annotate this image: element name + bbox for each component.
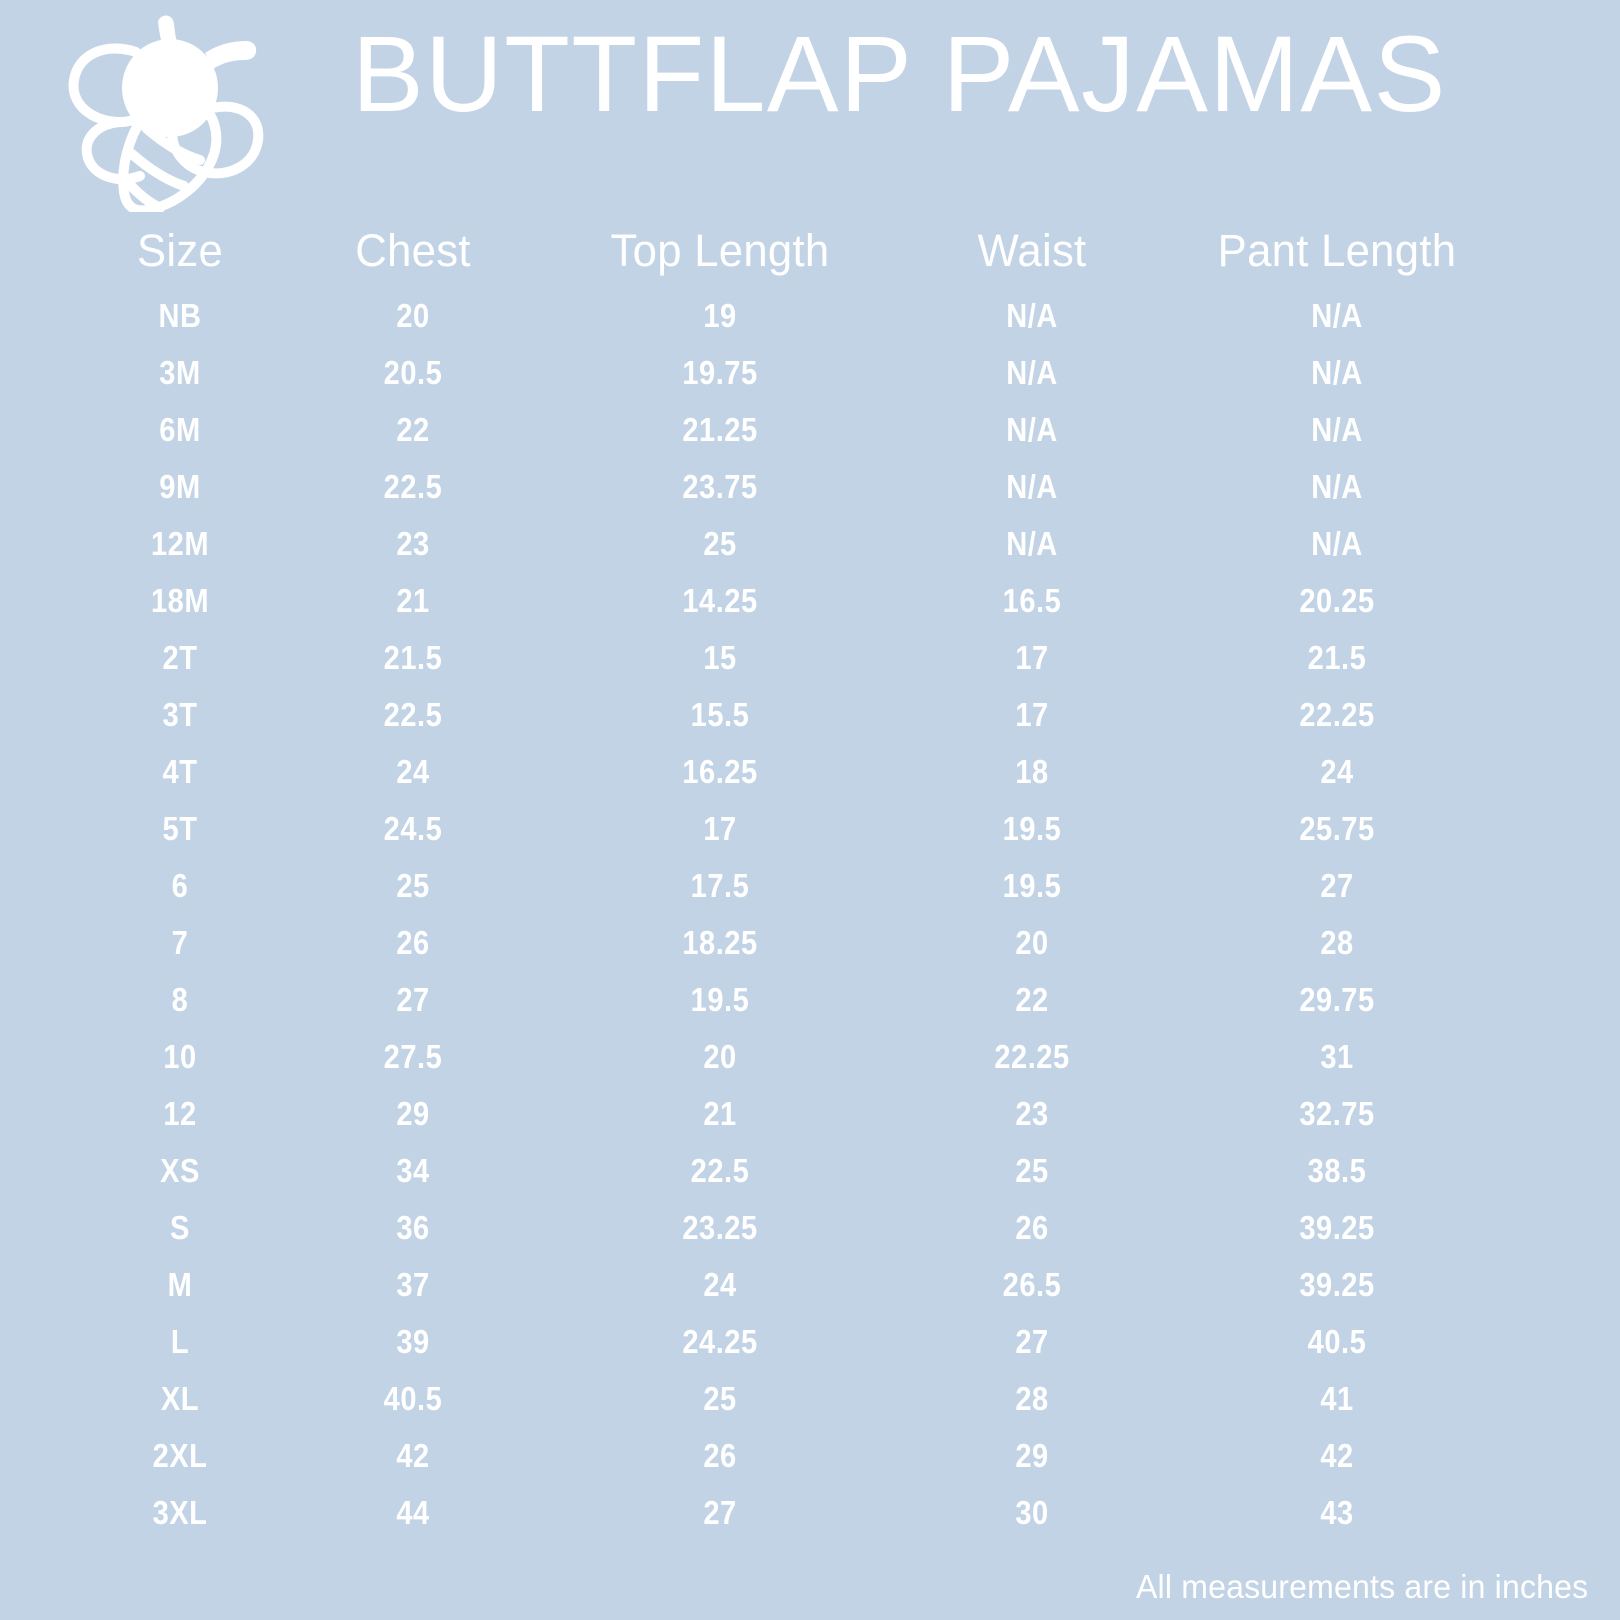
cell-size: 2T [70, 629, 290, 686]
cell-chest: 25 [303, 857, 523, 914]
cell-chest: 27.5 [303, 1028, 523, 1085]
cell-pant-length: 22.25 [1205, 686, 1469, 743]
cell-pant-length: 38.5 [1205, 1142, 1469, 1199]
cell-chest: 37 [303, 1256, 523, 1313]
cell-size: 7 [70, 914, 290, 971]
cell-top-length: 14.25 [588, 572, 852, 629]
table-row: 5T 24.5 17 19.5 25.75 [0, 800, 1620, 857]
cell-waist: 28 [922, 1370, 1142, 1427]
cell-top-length: 24 [588, 1256, 852, 1313]
cell-chest: 44 [303, 1484, 523, 1541]
cell-size: 3XL [70, 1484, 290, 1541]
cell-waist: 20 [922, 914, 1142, 971]
cell-waist: 29 [922, 1427, 1142, 1484]
cell-size: 5T [70, 800, 290, 857]
cell-top-length: 21.25 [588, 401, 852, 458]
cell-pant-length: 27 [1205, 857, 1469, 914]
table-row: 3M 20.5 19.75 N/A N/A [0, 344, 1620, 401]
cell-top-length: 17.5 [588, 857, 852, 914]
cell-top-length: 19 [588, 287, 852, 344]
table-row: 6 25 17.5 19.5 27 [0, 857, 1620, 914]
cell-top-length: 16.25 [588, 743, 852, 800]
table-row: 7 26 18.25 20 28 [0, 914, 1620, 971]
cell-waist: 17 [922, 629, 1142, 686]
cell-pant-length: 25.75 [1205, 800, 1469, 857]
cell-chest: 21 [303, 572, 523, 629]
cell-waist: N/A [922, 458, 1142, 515]
cell-pant-length: 42 [1205, 1427, 1469, 1484]
table-row: 10 27.5 20 22.25 31 [0, 1028, 1620, 1085]
cell-chest: 34 [303, 1142, 523, 1199]
cell-chest: 20.5 [303, 344, 523, 401]
size-table: Size Chest Top Length Waist Pant Length … [0, 215, 1620, 1541]
cell-pant-length: 32.75 [1205, 1085, 1469, 1142]
cell-waist: 25 [922, 1142, 1142, 1199]
table-row: 9M 22.5 23.75 N/A N/A [0, 458, 1620, 515]
cell-chest: 24.5 [303, 800, 523, 857]
cell-top-length: 19.5 [588, 971, 852, 1028]
table-row: NB 20 19 N/A N/A [0, 287, 1620, 344]
cell-size: NB [70, 287, 290, 344]
table-row: 12 29 21 23 32.75 [0, 1085, 1620, 1142]
table-row: L 39 24.25 27 40.5 [0, 1313, 1620, 1370]
cell-top-length: 25 [588, 1370, 852, 1427]
cell-waist: N/A [922, 287, 1142, 344]
cell-size: 18M [70, 572, 290, 629]
column-header-top-length: Top Length [575, 215, 866, 287]
cell-pant-length: N/A [1205, 515, 1469, 572]
cell-chest: 40.5 [303, 1370, 523, 1427]
table-row: 3XL 44 27 30 43 [0, 1484, 1620, 1541]
cell-chest: 27 [303, 971, 523, 1028]
cell-chest: 26 [303, 914, 523, 971]
cell-chest: 39 [303, 1313, 523, 1370]
table-row: XL 40.5 25 28 41 [0, 1370, 1620, 1427]
cell-waist: 23 [922, 1085, 1142, 1142]
column-header-size: Size [59, 215, 302, 287]
cell-top-length: 25 [588, 515, 852, 572]
cell-pant-length: 39.25 [1205, 1199, 1469, 1256]
cell-size: XS [70, 1142, 290, 1199]
cell-top-length: 24.25 [588, 1313, 852, 1370]
page-title: BUTTFLAP PAJAMAS [352, 18, 1601, 130]
cell-top-length: 21 [588, 1085, 852, 1142]
cell-size: XL [70, 1370, 290, 1427]
table-row: S 36 23.25 26 39.25 [0, 1199, 1620, 1256]
cell-chest: 42 [303, 1427, 523, 1484]
cell-waist: 18 [922, 743, 1142, 800]
cell-top-length: 26 [588, 1427, 852, 1484]
table-row: 12M 23 25 N/A N/A [0, 515, 1620, 572]
cell-chest: 22 [303, 401, 523, 458]
table-row: 3T 22.5 15.5 17 22.25 [0, 686, 1620, 743]
table-header-row: Size Chest Top Length Waist Pant Length [0, 215, 1620, 287]
cell-size: 6 [70, 857, 290, 914]
cell-chest: 21.5 [303, 629, 523, 686]
cell-size: 12 [70, 1085, 290, 1142]
size-chart: BUTTFLAP PAJAMAS Size Chest Top Length W… [0, 0, 1620, 1620]
cell-size: 4T [70, 743, 290, 800]
cell-pant-length: 20.25 [1205, 572, 1469, 629]
cell-size: 3M [70, 344, 290, 401]
cell-size: S [70, 1199, 290, 1256]
cell-top-length: 15 [588, 629, 852, 686]
cell-top-length: 23.75 [588, 458, 852, 515]
cell-top-length: 18.25 [588, 914, 852, 971]
table-row: M 37 24 26.5 39.25 [0, 1256, 1620, 1313]
cell-top-length: 17 [588, 800, 852, 857]
cell-size: M [70, 1256, 290, 1313]
cell-size: L [70, 1313, 290, 1370]
cell-chest: 22.5 [303, 458, 523, 515]
cell-waist: N/A [922, 344, 1142, 401]
cell-chest: 20 [303, 287, 523, 344]
chart-header: BUTTFLAP PAJAMAS [0, 0, 1620, 215]
cell-top-length: 22.5 [588, 1142, 852, 1199]
cell-pant-length: N/A [1205, 344, 1469, 401]
column-header-pant-length: Pant Length [1192, 215, 1483, 287]
table-row: 2T 21.5 15 17 21.5 [0, 629, 1620, 686]
cell-waist: 19.5 [922, 857, 1142, 914]
cell-waist: 27 [922, 1313, 1142, 1370]
cell-pant-length: 41 [1205, 1370, 1469, 1427]
cell-pant-length: N/A [1205, 401, 1469, 458]
cell-waist: 26.5 [922, 1256, 1142, 1313]
table-row: 4T 24 16.25 18 24 [0, 743, 1620, 800]
cell-chest: 29 [303, 1085, 523, 1142]
cell-top-length: 23.25 [588, 1199, 852, 1256]
cell-top-length: 20 [588, 1028, 852, 1085]
cell-pant-length: 43 [1205, 1484, 1469, 1541]
cell-waist: 30 [922, 1484, 1142, 1541]
cell-size: 2XL [70, 1427, 290, 1484]
cell-pant-length: N/A [1205, 458, 1469, 515]
column-header-chest: Chest [292, 215, 535, 287]
table-row: 2XL 42 26 29 42 [0, 1427, 1620, 1484]
table-row: 6M 22 21.25 N/A N/A [0, 401, 1620, 458]
cell-pant-length: 24 [1205, 743, 1469, 800]
cell-chest: 24 [303, 743, 523, 800]
cell-top-length: 19.75 [588, 344, 852, 401]
column-header-waist: Waist [911, 215, 1154, 287]
cell-chest: 23 [303, 515, 523, 572]
cell-size: 9M [70, 458, 290, 515]
cell-pant-length: N/A [1205, 287, 1469, 344]
cell-pant-length: 21.5 [1205, 629, 1469, 686]
cell-pant-length: 39.25 [1205, 1256, 1469, 1313]
cell-size: 8 [70, 971, 290, 1028]
cell-size: 3T [70, 686, 290, 743]
cell-pant-length: 29.75 [1205, 971, 1469, 1028]
cell-top-length: 27 [588, 1484, 852, 1541]
cell-waist: 16.5 [922, 572, 1142, 629]
cell-top-length: 15.5 [588, 686, 852, 743]
cell-chest: 36 [303, 1199, 523, 1256]
cell-size: 6M [70, 401, 290, 458]
cell-waist: 17 [922, 686, 1142, 743]
cell-pant-length: 40.5 [1205, 1313, 1469, 1370]
cell-waist: N/A [922, 401, 1142, 458]
table-row: 8 27 19.5 22 29.75 [0, 971, 1620, 1028]
cell-pant-length: 31 [1205, 1028, 1469, 1085]
measurement-units-note: All measurements are in inches [1136, 1568, 1588, 1606]
bee-logo-icon [62, 12, 267, 212]
cell-waist: 22.25 [922, 1028, 1142, 1085]
cell-waist: 26 [922, 1199, 1142, 1256]
cell-waist: 22 [922, 971, 1142, 1028]
cell-waist: N/A [922, 515, 1142, 572]
cell-size: 10 [70, 1028, 290, 1085]
cell-chest: 22.5 [303, 686, 523, 743]
table-row: XS 34 22.5 25 38.5 [0, 1142, 1620, 1199]
table-row: 18M 21 14.25 16.5 20.25 [0, 572, 1620, 629]
cell-pant-length: 28 [1205, 914, 1469, 971]
cell-waist: 19.5 [922, 800, 1142, 857]
cell-size: 12M [70, 515, 290, 572]
